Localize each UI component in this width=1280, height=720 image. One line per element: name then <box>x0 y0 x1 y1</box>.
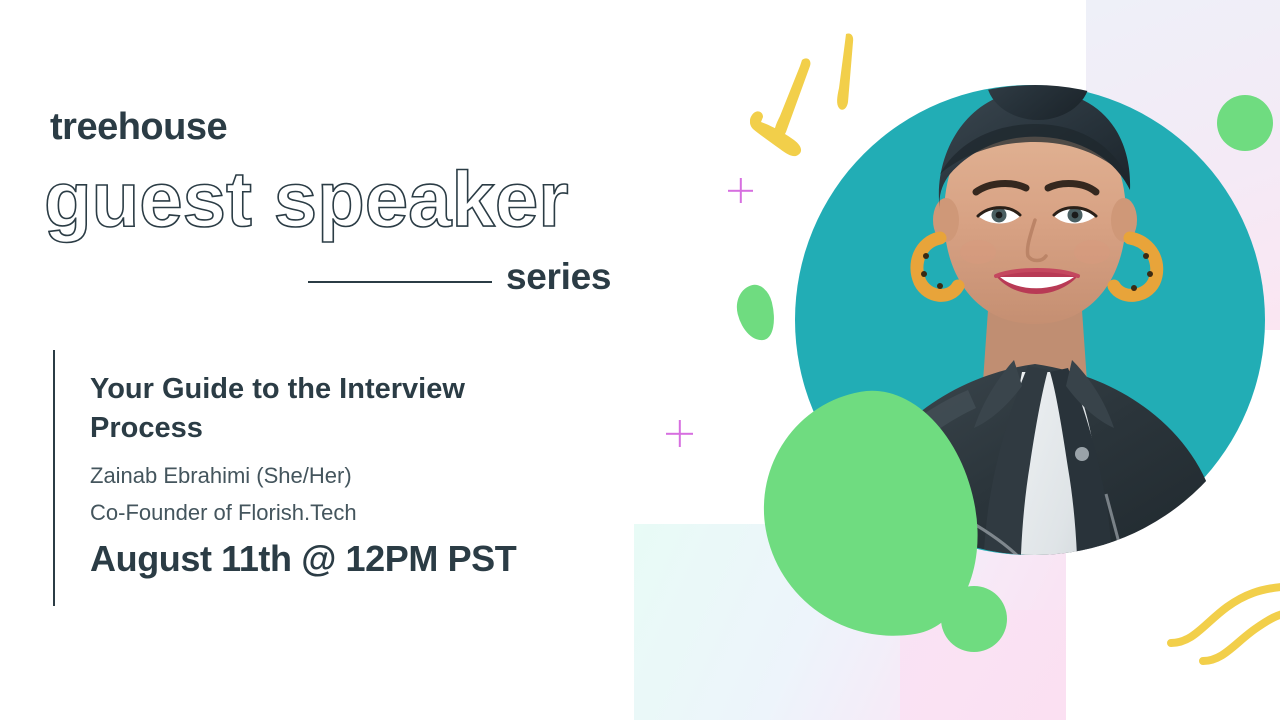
vertical-accent-rule <box>53 350 55 606</box>
green-circle-bottom-icon <box>941 586 1007 652</box>
event-datetime: August 11th @ 12PM PST <box>90 536 516 581</box>
copy-block: treehouse guest speaker series Your Guid… <box>0 0 640 720</box>
treehouse-wordmark: treehouse <box>50 108 227 146</box>
magenta-plus-icon-middle <box>666 420 693 447</box>
guest-speaker-promo-slide: treehouse guest speaker series Your Guid… <box>0 0 1280 720</box>
speaker-role: Co-Founder of Florish.Tech <box>90 499 357 528</box>
green-blob-small-icon <box>732 281 780 344</box>
series-label: series <box>506 258 611 295</box>
magenta-plus-icon-top <box>728 178 753 203</box>
speaker-name: Zainab Ebrahimi (She/Her) <box>90 462 352 491</box>
guest-speaker-outline-headline: guest speaker <box>44 160 569 238</box>
yellow-wavy-strokes-icon <box>1165 565 1280 675</box>
series-divider-rule <box>308 281 492 283</box>
green-circle-top-right-icon <box>1217 95 1273 151</box>
session-title: Your Guide to the Interview Process <box>90 370 520 447</box>
